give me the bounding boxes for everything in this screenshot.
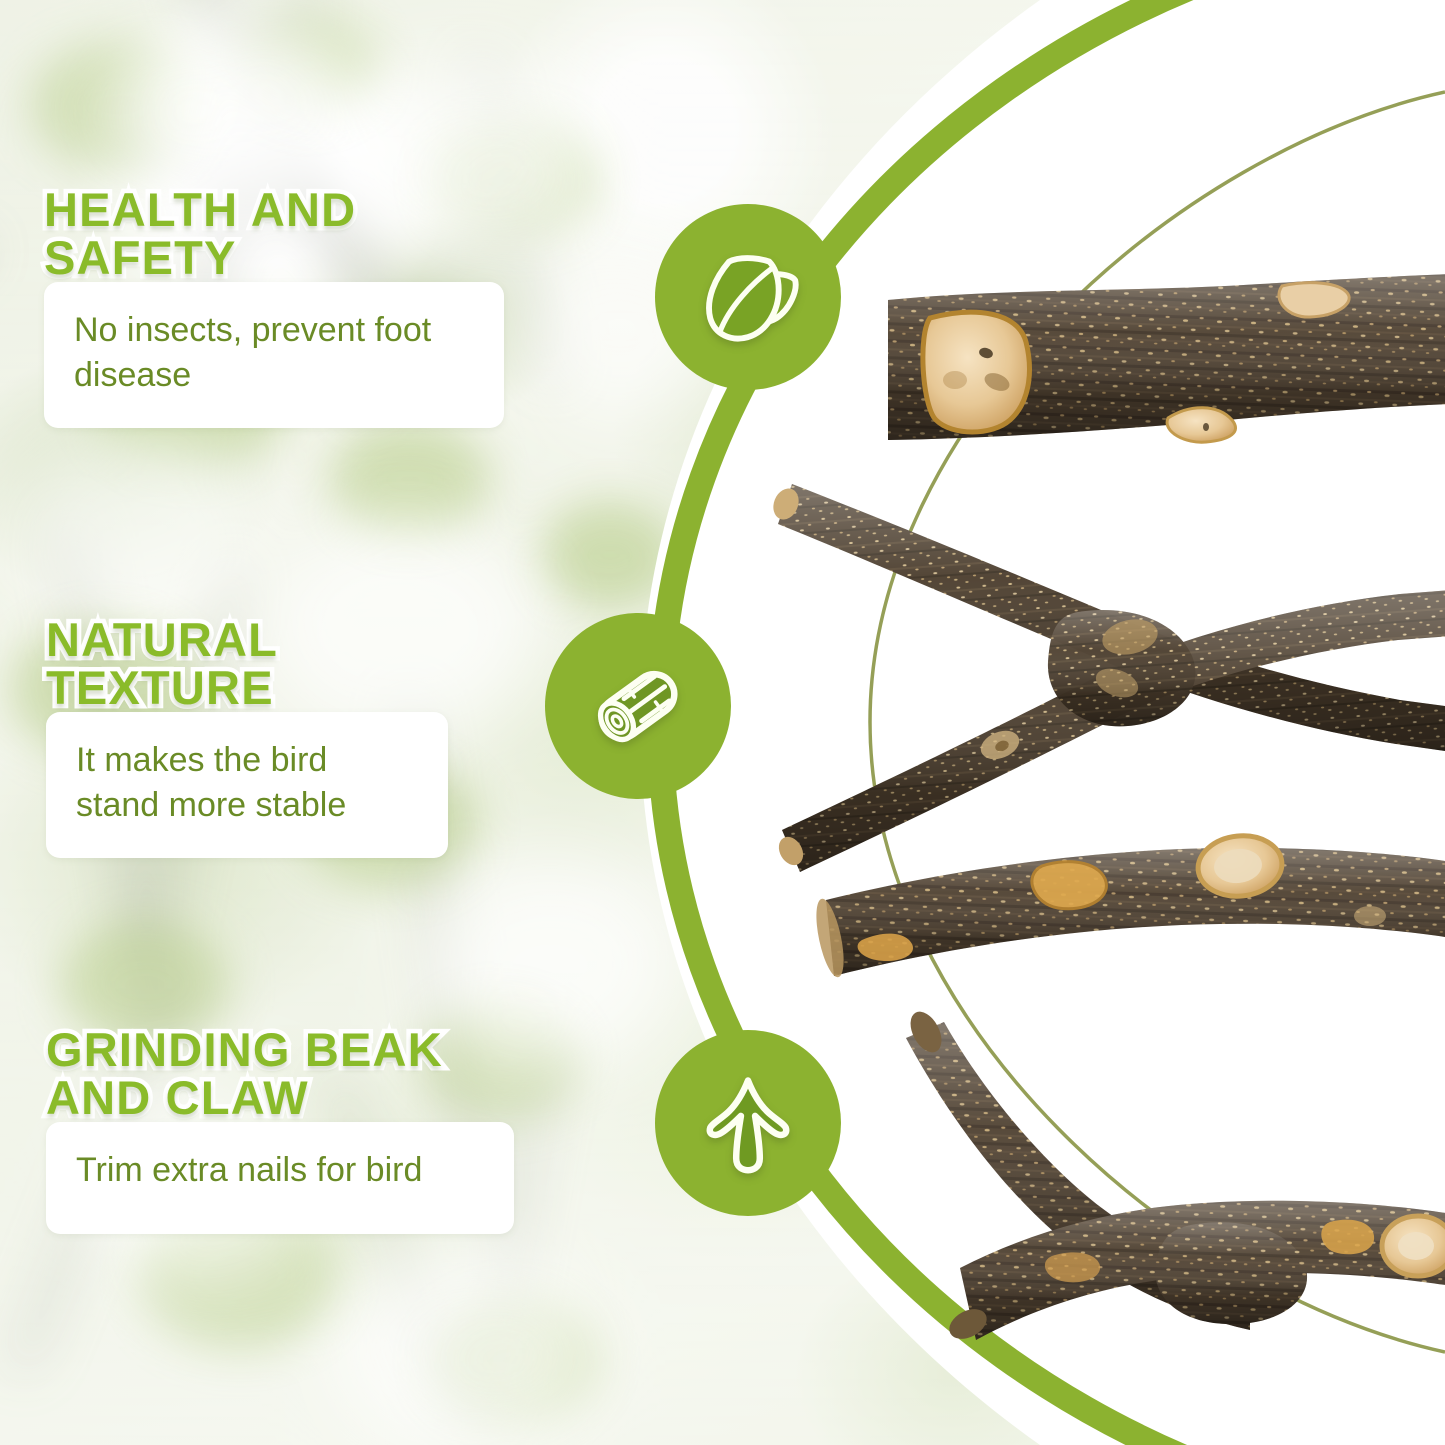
feature-title: NATURAL TEXTURE bbox=[46, 616, 448, 712]
feature-badge-health-and-safety bbox=[655, 204, 841, 390]
feature-body: No insects, prevent foot disease bbox=[74, 308, 474, 398]
feature-title: HEALTH AND SAFETY bbox=[44, 186, 504, 282]
feature-title: GRINDING BEAK AND CLAW bbox=[46, 1026, 514, 1122]
feature-card: No insects, prevent foot disease bbox=[44, 282, 504, 428]
feature-health-and-safety: HEALTH AND SAFETY No insects, prevent fo… bbox=[44, 186, 504, 428]
feature-card: It makes the bird stand more stable bbox=[46, 712, 448, 858]
feature-badge-grinding-beak-and-claw bbox=[655, 1030, 841, 1216]
feature-body: It makes the bird stand more stable bbox=[76, 738, 418, 828]
bird-footprint-icon bbox=[689, 1064, 807, 1182]
feature-natural-texture: NATURAL TEXTURE It makes the bird stand … bbox=[46, 616, 448, 858]
feature-body: Trim extra nails for bird bbox=[76, 1148, 484, 1193]
feature-badge-natural-texture bbox=[545, 613, 731, 799]
feature-grinding-beak-and-claw: GRINDING BEAK AND CLAW Trim extra nails … bbox=[46, 1026, 514, 1234]
infographic-canvas: HEALTH AND SAFETY No insects, prevent fo… bbox=[0, 0, 1445, 1445]
log-icon bbox=[579, 647, 697, 765]
feature-card: Trim extra nails for bird bbox=[46, 1122, 514, 1234]
leaf-icon bbox=[689, 238, 807, 356]
